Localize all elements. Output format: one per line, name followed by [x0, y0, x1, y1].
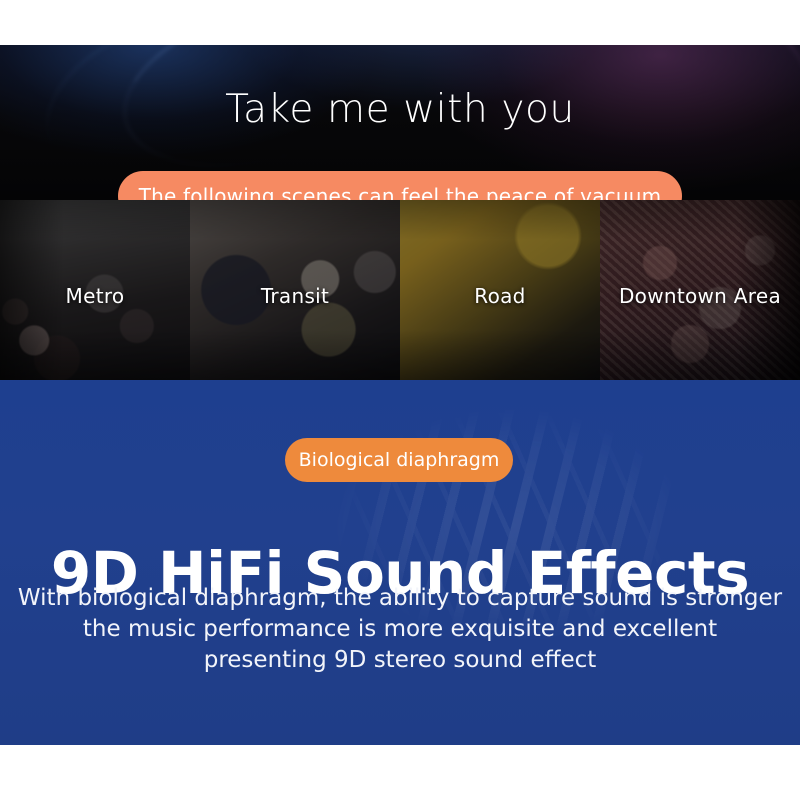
body-line-3: presenting 9D stereo sound effect [0, 645, 800, 676]
hero-section: Take me with you The following scenes ca… [0, 45, 800, 200]
marketing-banner-page: Take me with you The following scenes ca… [0, 0, 800, 800]
scene-card-road[interactable]: Road [400, 200, 600, 380]
scene-label-downtown-area: Downtown Area [600, 284, 800, 308]
scene-label-metro: Metro [0, 284, 190, 308]
scene-label-transit: Transit [190, 284, 400, 308]
scene-card-transit[interactable]: Transit [190, 200, 400, 380]
hero-subtitle-text: The following scenes can feel the peace … [139, 184, 662, 200]
body-line-2: the music performance is more exquisite … [0, 614, 800, 645]
scene-label-road: Road [400, 284, 600, 308]
body-line-1: With biological diaphragm, the ability t… [0, 583, 800, 614]
scene-strip: Metro Transit Road Downtown Area [0, 200, 800, 380]
feature-badge: Biological diaphragm [285, 438, 513, 482]
hero-title: Take me with you [0, 86, 800, 134]
scene-card-downtown-area[interactable]: Downtown Area [600, 200, 800, 380]
feature-badge-text: Biological diaphragm [299, 449, 500, 471]
hero-subtitle-pill: The following scenes can feel the peace … [118, 171, 682, 200]
scene-card-metro[interactable]: Metro [0, 200, 190, 380]
bottom-white-margin [0, 745, 800, 800]
top-white-margin [0, 0, 800, 45]
feature-body-copy: With biological diaphragm, the ability t… [0, 583, 800, 676]
